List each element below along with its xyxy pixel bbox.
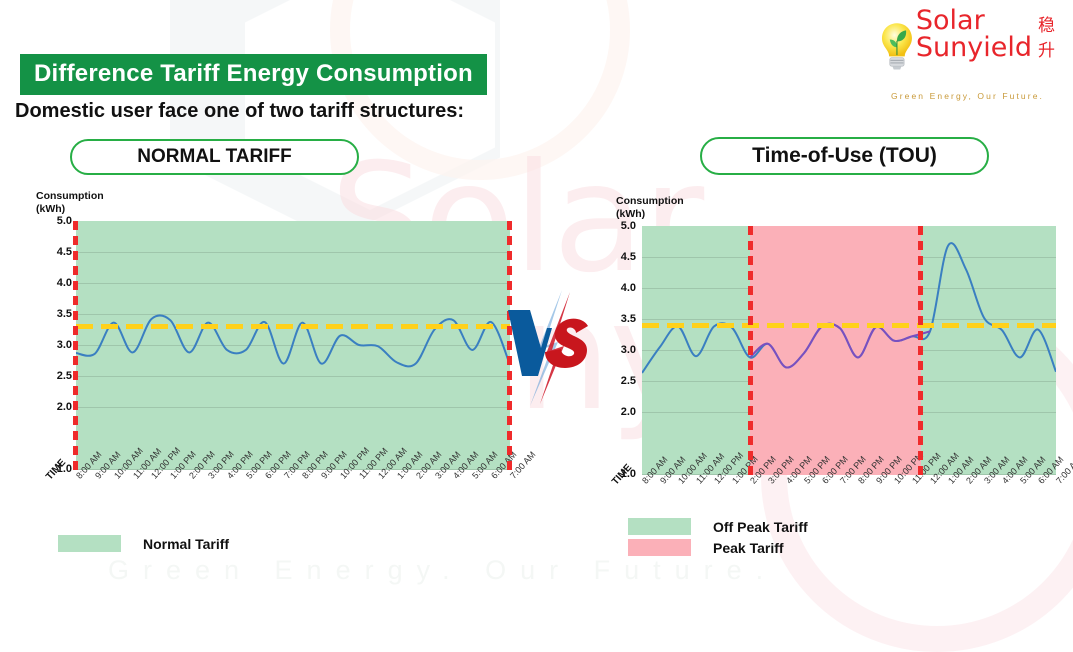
tou-tariff-chart: Consumption(kWh) 5.04.54.03.53.02.52.01.… — [594, 195, 1064, 495]
y-axis-label-left: Consumption(kWh) — [36, 190, 104, 216]
normal-tariff-chart: Consumption(kWh) 5.04.54.03.53.02.52.01.… — [14, 190, 514, 490]
legend-item: Peak Tariff — [628, 539, 808, 556]
peak-swatch — [628, 539, 691, 556]
lightbulb-leaf-icon — [880, 8, 914, 84]
normal-tariff-title-pill: NORMAL TARIFF — [70, 139, 359, 175]
y-axis-tick-left: 5.0 — [38, 215, 72, 227]
consumption-line-right — [642, 226, 1056, 475]
y-axis-tick-left: 3.0 — [38, 339, 72, 351]
x-axis-ticks-left: 8:00 AM9:00 AM10:00 AM11:00 AM12:00 PM1:… — [76, 472, 510, 532]
y-axis-tick-left: 2.5 — [38, 370, 72, 382]
page-subtitle: Domestic user face one of two tariff str… — [15, 100, 464, 123]
legend-item: Off Peak Tariff — [628, 518, 808, 535]
consumption-line-left — [76, 221, 510, 470]
y-axis-ticks-right: 5.04.54.03.53.02.52.01.0 — [602, 226, 636, 475]
page-title: Difference Tariff Energy Consumption — [20, 54, 487, 95]
peak-start-boundary-line — [748, 226, 753, 475]
y-axis-tick-right: 4.5 — [602, 251, 636, 263]
off-peak-swatch — [58, 535, 121, 552]
logo-name-line2: Sunyield — [916, 34, 1032, 61]
off-peak-swatch — [628, 518, 691, 535]
legend-label: Peak Tariff — [713, 540, 784, 556]
peak-end-boundary-line — [918, 226, 923, 475]
legend-label: Off Peak Tariff — [713, 519, 808, 535]
y-axis-tick-right: 5.0 — [602, 220, 636, 232]
legend-right: Off Peak TariffPeak Tariff — [628, 518, 808, 560]
boundary-line-start-left — [73, 221, 78, 470]
y-axis-ticks-left: 5.04.54.03.53.02.52.01.0 — [38, 221, 72, 470]
consumption-series — [76, 315, 510, 366]
y-axis-tick-left: 4.5 — [38, 246, 72, 258]
y-axis-tick-left: 4.0 — [38, 277, 72, 289]
consumption-series — [642, 243, 1056, 373]
y-axis-tick-right: 2.5 — [602, 375, 636, 387]
brand-logo: Solar Sunyield 稳升 Green Energy, Our Futu… — [880, 8, 1055, 100]
y-axis-tick-right: 4.0 — [602, 282, 636, 294]
average-line-left — [76, 324, 510, 329]
legend-label: Normal Tariff — [143, 536, 229, 552]
consumption-series — [750, 324, 930, 368]
y-axis-tick-right: 2.0 — [602, 406, 636, 418]
tou-tariff-plot-area — [642, 226, 1056, 475]
legend-item: Normal Tariff — [58, 535, 229, 552]
tou-tariff-title-pill: Time-of-Use (TOU) — [700, 137, 989, 175]
logo-tagline: Green Energy, Our Future. — [880, 91, 1055, 101]
y-axis-tick-left: 3.5 — [38, 308, 72, 320]
legend-left: Normal Tariff — [58, 535, 229, 556]
y-axis-tick-right: 3.5 — [602, 313, 636, 325]
normal-tariff-plot-area — [76, 221, 510, 470]
average-line-right — [642, 323, 1056, 328]
y-axis-label-right: Consumption(kWh) — [616, 195, 684, 221]
y-axis-tick-right: 3.0 — [602, 344, 636, 356]
logo-name-line1: Solar — [916, 8, 1032, 34]
y-axis-tick-left: 2.0 — [38, 401, 72, 413]
logo-chinese-name: 稳升 — [1038, 11, 1055, 61]
versus-badge — [500, 288, 600, 408]
